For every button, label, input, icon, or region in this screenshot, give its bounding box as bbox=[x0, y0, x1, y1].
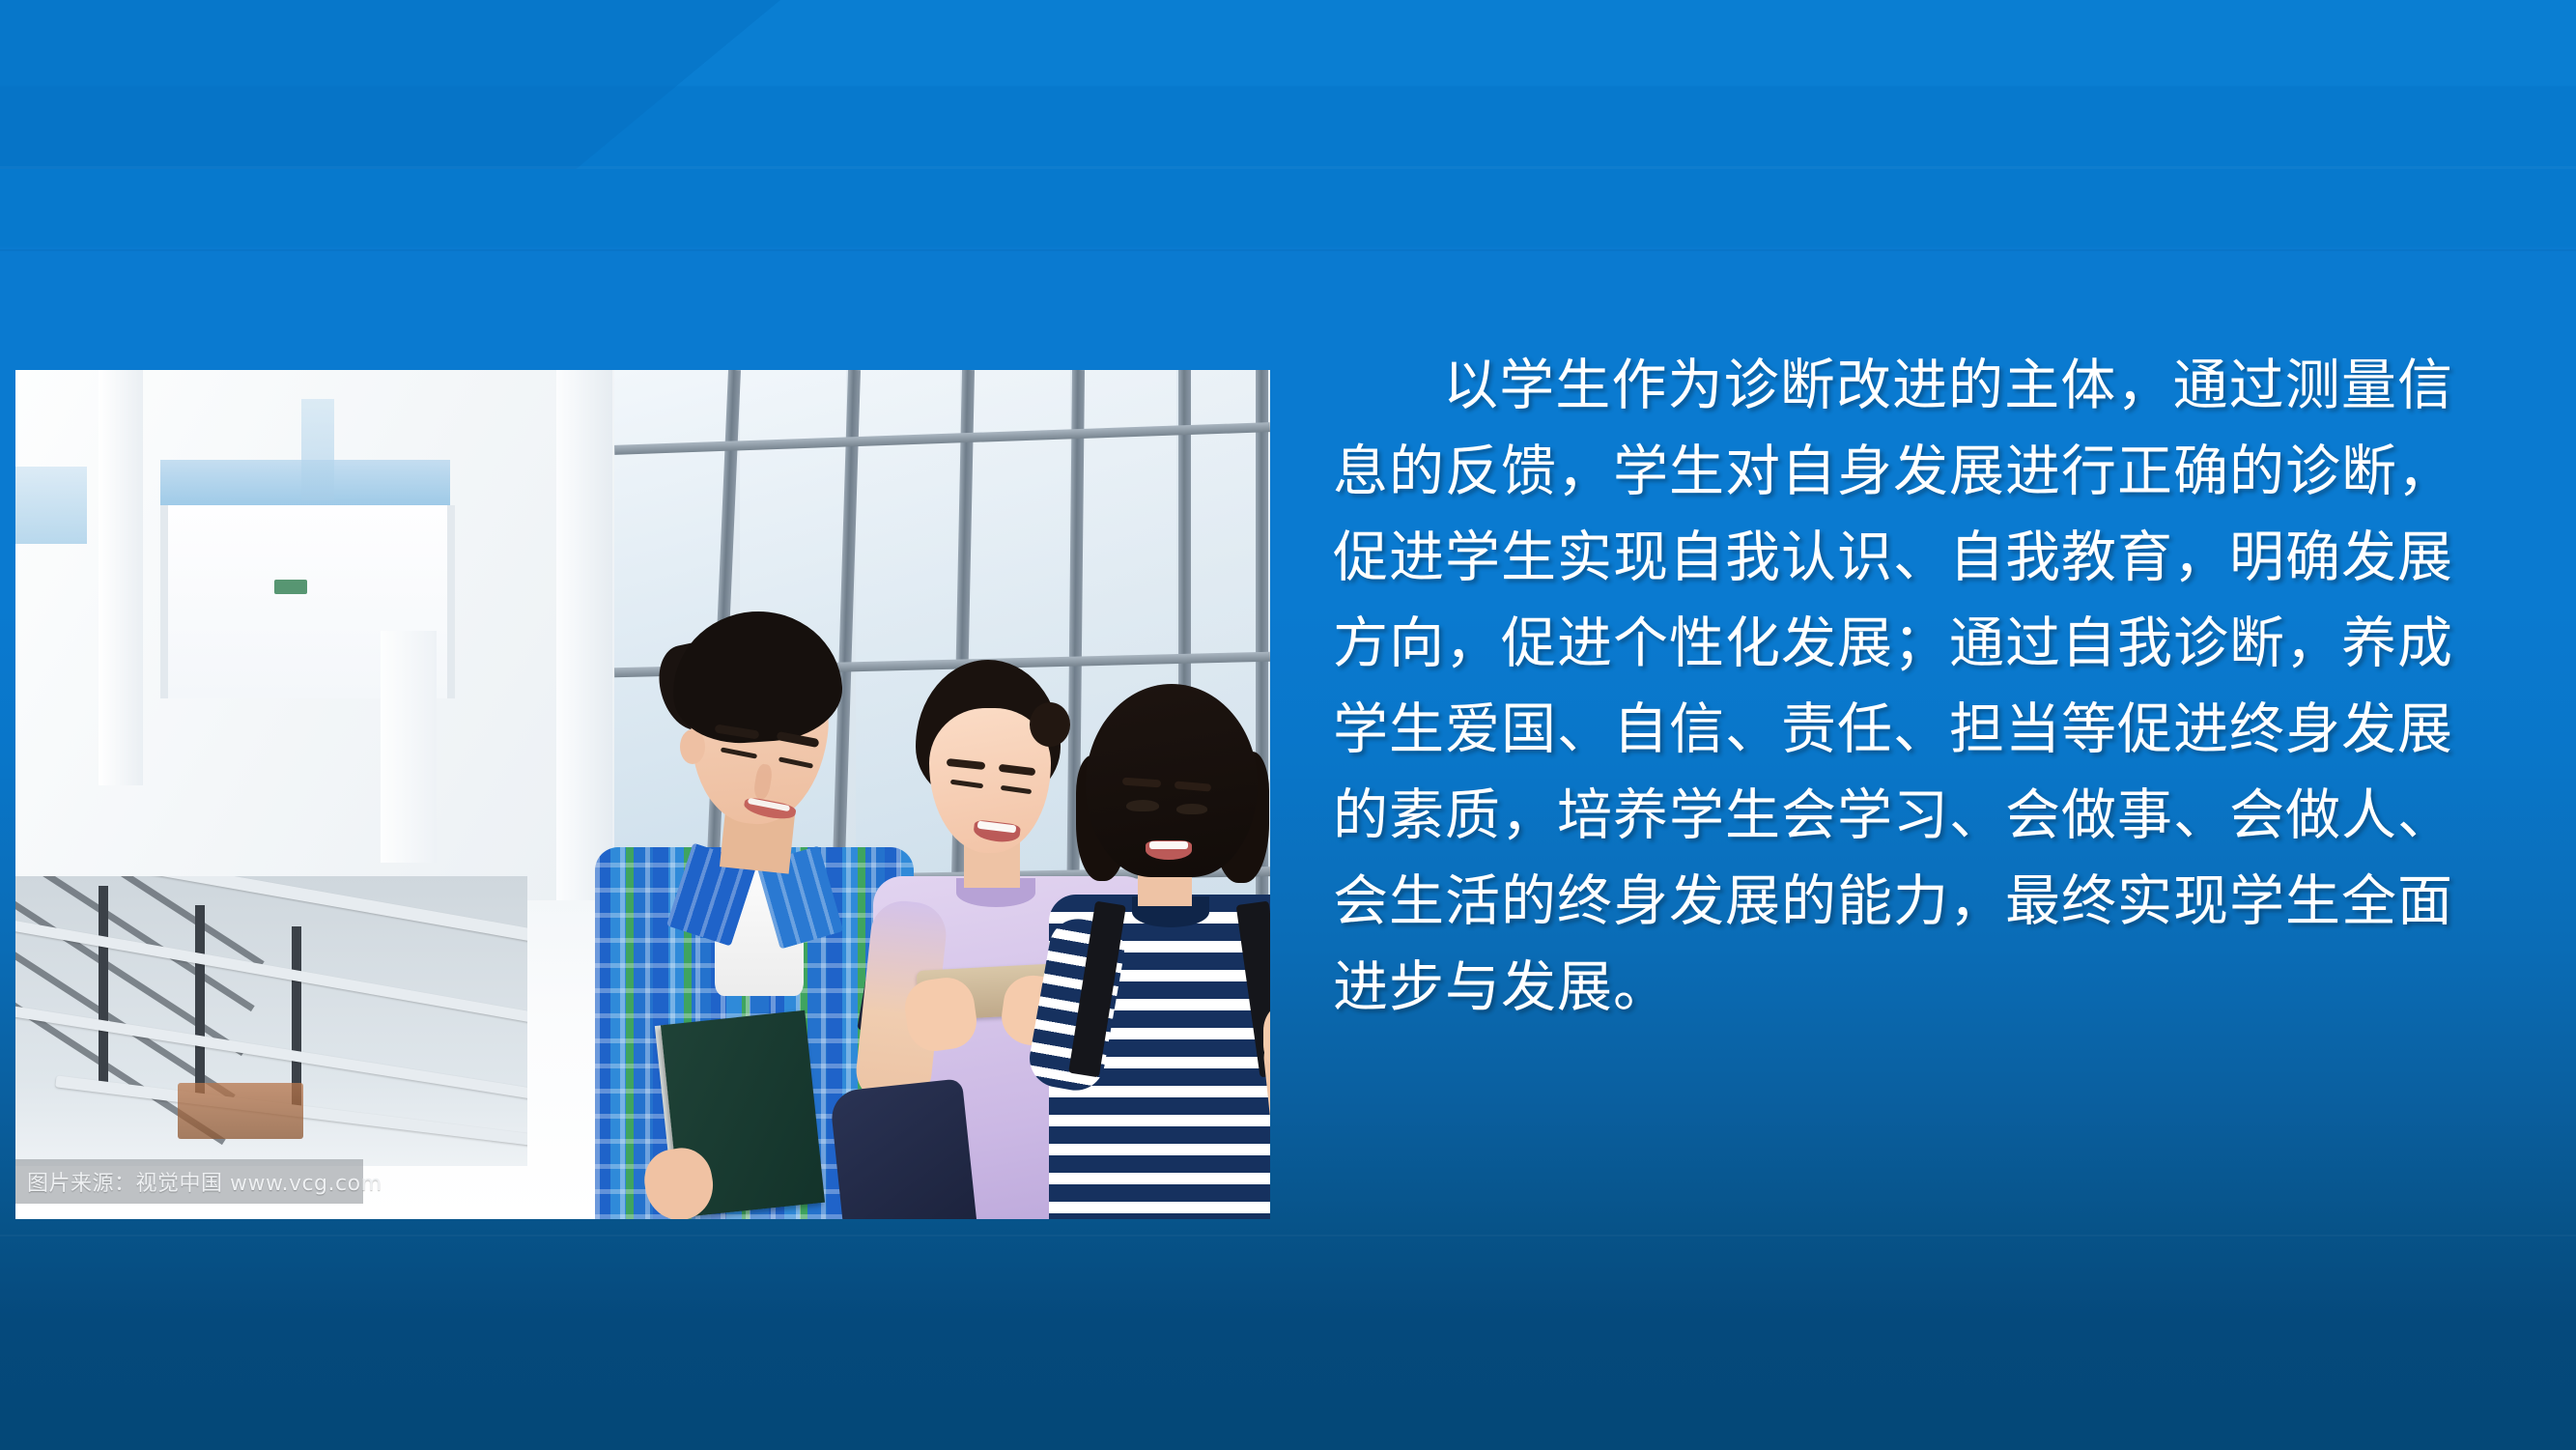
window-blue-far-left bbox=[15, 467, 87, 544]
wall-column-left bbox=[99, 370, 143, 785]
shoulder-bag bbox=[829, 1078, 980, 1219]
slide-canvas: 图片来源：视觉中国 www.vcg.com 以学生作为诊断改进的主体，通过测量信… bbox=[0, 0, 2576, 1450]
background-band-lower bbox=[0, 1235, 2576, 1237]
photo-source-watermark: 图片来源：视觉中国 www.vcg.com bbox=[15, 1159, 363, 1204]
window-blue-narrow bbox=[301, 399, 334, 500]
body-text-block: 以学生作为诊断改进的主体，通过测量信息的反馈，学生对自身发展进行正确的诊断，促进… bbox=[1333, 343, 2453, 1031]
watermark-text: 图片来源：视觉中国 www.vcg.com bbox=[15, 1166, 382, 1197]
exit-sign-icon bbox=[274, 580, 307, 594]
campus-students-photo: 图片来源：视觉中国 www.vcg.com bbox=[15, 370, 1270, 1219]
corridor-pillar bbox=[381, 631, 437, 863]
background-band-mid bbox=[0, 249, 2576, 251]
top-left-accent-shape bbox=[0, 0, 792, 169]
eye-left bbox=[1126, 800, 1159, 811]
student-female-striped bbox=[1039, 684, 1270, 1219]
stair-railing bbox=[15, 876, 527, 1166]
body-paragraph: 以学生作为诊断改进的主体，通过测量信息的反馈，学生对自身发展进行正确的诊断，促进… bbox=[1333, 343, 2453, 1031]
teeth bbox=[1149, 841, 1188, 849]
corridor-bench bbox=[178, 1083, 303, 1139]
hair bbox=[668, 606, 846, 748]
eye-right bbox=[1176, 804, 1207, 814]
